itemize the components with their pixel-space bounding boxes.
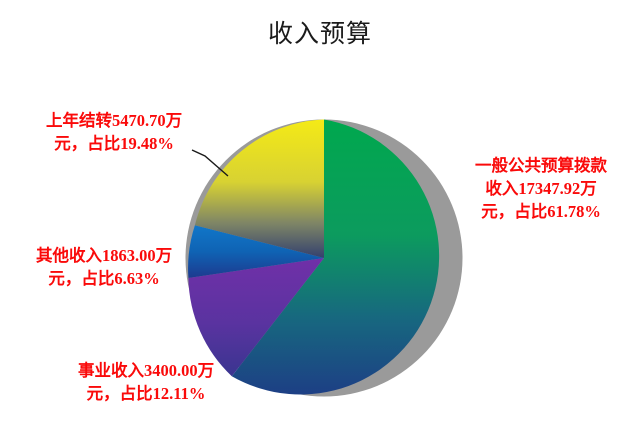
slice-label-career-income: 事业收入3400.00万 元，占比12.11% <box>46 360 246 406</box>
slice-label-carryover: 上年结转5470.70万 元，占比19.48% <box>18 110 210 156</box>
slice-label-other-income: 其他收入1863.00万 元，占比6.63% <box>6 245 202 291</box>
pie-chart-figure: 收入预算 <box>0 0 640 431</box>
slice-label-public-budget: 一般公共预算拨款 收入17347.92万 元，占比61.78% <box>448 155 634 223</box>
